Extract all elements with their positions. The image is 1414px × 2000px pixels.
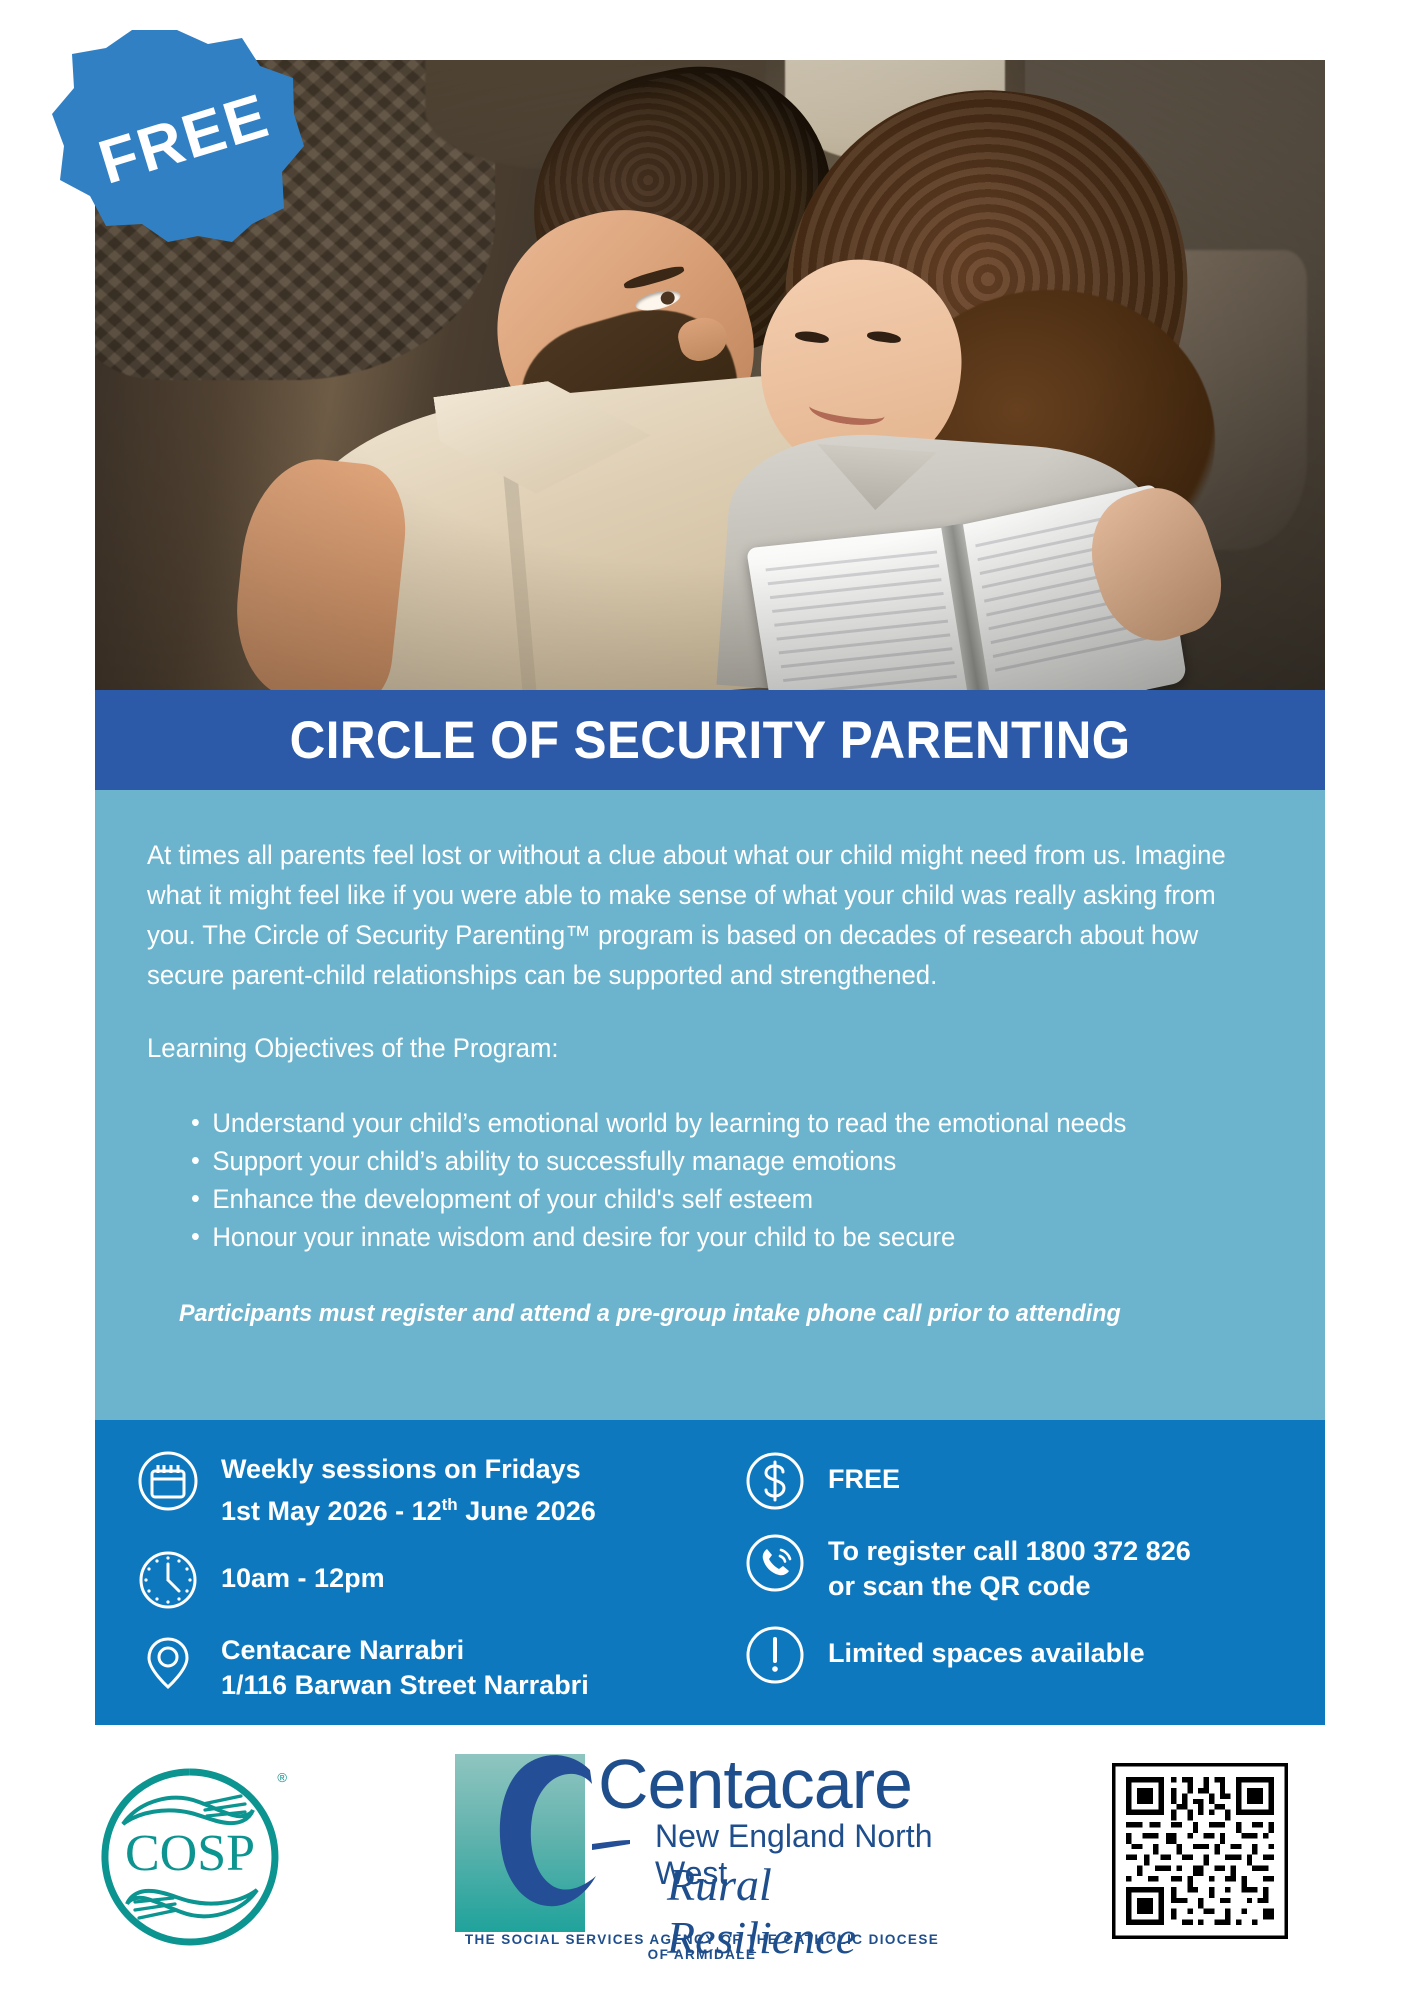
dates-ordinal-suffix: th: [442, 1495, 458, 1514]
free-badge-label: FREE: [91, 80, 278, 199]
phone-line-1: To register call 1800 372 826: [828, 1536, 1191, 1566]
intro-paragraph: At times all parents feel lost or withou…: [147, 835, 1239, 995]
info-row-dates: Weekly sessions on Fridays 1st May 2026 …: [137, 1448, 710, 1529]
info-text-time: 10am - 12pm: [221, 1547, 385, 1596]
list-item: Enhance the development of your child's …: [191, 1180, 1241, 1218]
book-text-lines-left: [765, 550, 961, 690]
centacare-logo: Centacare New England North West Rural R…: [455, 1750, 950, 1965]
info-text-location: Centacare Narrabri 1/116 Barwan Street N…: [221, 1629, 589, 1703]
svg-text:COSP: COSP: [125, 1825, 255, 1882]
info-text-phone: To register call 1800 372 826 or scan th…: [828, 1530, 1191, 1604]
objectives-list: Understand your child’s emotional world …: [191, 1104, 1241, 1256]
phone-line-2: or scan the QR code: [828, 1571, 1091, 1601]
dates-line-2-post: June 2026: [458, 1496, 596, 1526]
info-row-availability: Limited spaces available: [744, 1622, 1325, 1686]
info-row-location: Centacare Narrabri 1/116 Barwan Street N…: [137, 1629, 710, 1703]
list-item: Understand your child’s emotional world …: [191, 1104, 1241, 1142]
free-badge-text-wrap: FREE: [48, 28, 306, 243]
poster-root: FREE CIRCLE OF SECURITY PARENTING At tim…: [0, 0, 1414, 2000]
list-item: Support your child’s ability to successf…: [191, 1142, 1241, 1180]
qr-code[interactable]: [1110, 1760, 1290, 1942]
cosp-logo: COSP ®: [95, 1762, 285, 1952]
info-column-left: Weekly sessions on Fridays 1st May 2026 …: [95, 1420, 710, 1725]
info-text-availability: Limited spaces available: [828, 1622, 1145, 1671]
exclamation-icon: [744, 1624, 806, 1686]
location-pin-icon: [137, 1631, 199, 1693]
phone-icon: [744, 1532, 806, 1594]
registered-trademark-symbol: ®: [277, 1770, 287, 1785]
calendar-icon: [137, 1450, 199, 1512]
info-row-cost: FREE: [744, 1448, 1325, 1512]
free-badge: FREE: [48, 28, 306, 243]
dates-line-2-pre: 1st May 2026 - 12: [221, 1496, 442, 1526]
info-row-phone: To register call 1800 372 826 or scan th…: [744, 1530, 1325, 1604]
title-bar: CIRCLE OF SECURITY PARENTING: [95, 690, 1325, 790]
objectives-heading: Learning Objectives of the Program:: [147, 1033, 1239, 1064]
location-address: 1/116 Barwan Street Narrabri: [221, 1670, 589, 1700]
registration-note: Participants must register and attend a …: [179, 1300, 1240, 1328]
centacare-name: Centacare: [598, 1744, 912, 1824]
info-text-dates: Weekly sessions on Fridays 1st May 2026 …: [221, 1448, 596, 1529]
list-item: Honour your innate wisdom and desire for…: [191, 1218, 1241, 1256]
qr-code-graphic: [1110, 1760, 1290, 1942]
dollar-icon: [744, 1450, 806, 1512]
centacare-agency-tagline: THE SOCIAL SERVICES AGENCY OF THE CATHOL…: [452, 1932, 952, 1962]
dates-line-1: Weekly sessions on Fridays: [221, 1454, 581, 1484]
page-title: CIRCLE OF SECURITY PARENTING: [290, 710, 1131, 771]
info-column-right: FREE To register call 1800 372 826 or sc…: [710, 1420, 1325, 1725]
info-text-cost: FREE: [828, 1448, 900, 1497]
info-row-time: 10am - 12pm: [137, 1547, 710, 1611]
body-panel: At times all parents feel lost or withou…: [95, 790, 1325, 1420]
clock-icon: [137, 1549, 199, 1611]
footer-logos: COSP ® Centacare New England North West …: [0, 1740, 1414, 2000]
info-panel: Weekly sessions on Fridays 1st May 2026 …: [95, 1420, 1325, 1725]
location-venue: Centacare Narrabri: [221, 1635, 464, 1665]
cosp-logo-mark: COSP: [95, 1762, 285, 1952]
